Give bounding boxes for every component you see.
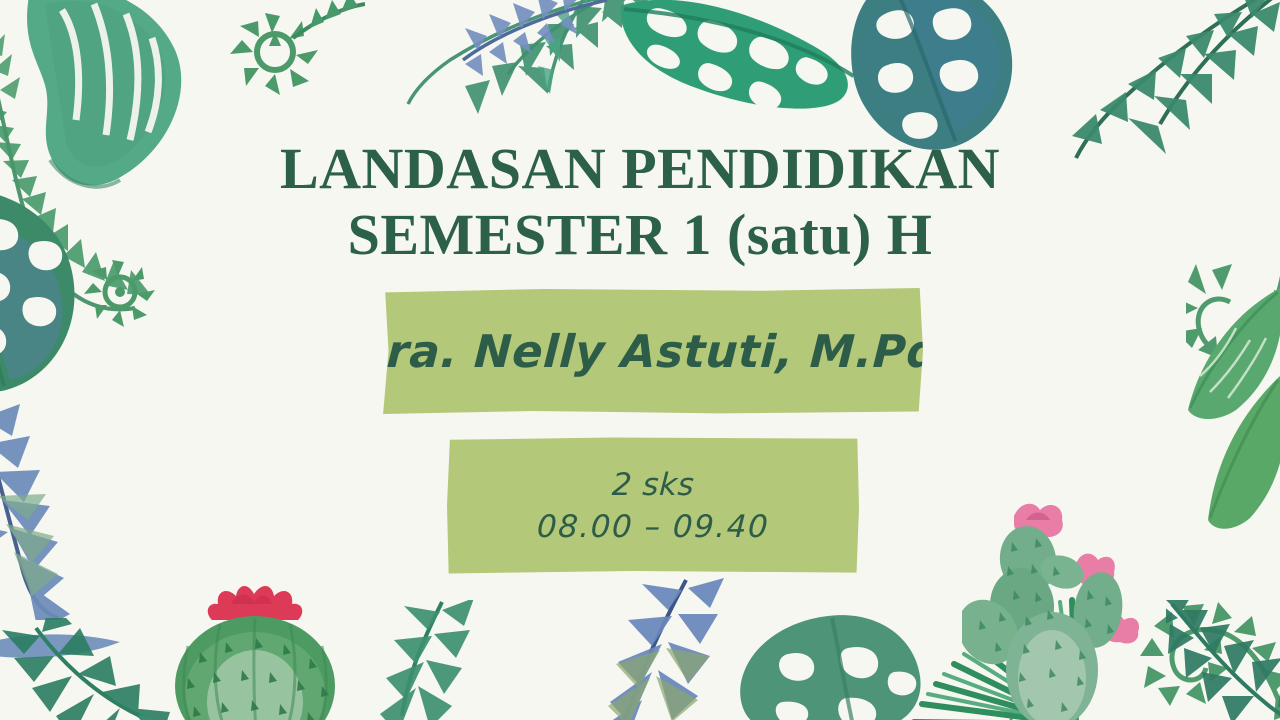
instructor-name-banner: Dra. Nelly Astuti, M.Pd.	[382, 288, 923, 414]
cactus-flower-red	[208, 586, 303, 620]
instructor-name: Dra. Nelly Astuti, M.Pd.	[347, 325, 958, 378]
course-details-box: 2 sks 08.00 – 09.40	[447, 437, 859, 574]
page-title: LANDASAN PENDIDIKAN SEMESTER 1 (satu) H	[190, 136, 1090, 267]
blue-palm-frond-bottom-center-decoration	[506, 576, 766, 720]
title-line-1: LANDASAN PENDIDIKAN	[190, 136, 1090, 202]
cactus-flower-pink-top	[1014, 504, 1063, 538]
fiddlehead-fern-top-center-left-decoration	[215, 0, 365, 102]
blue-fern-frond-top-center-decoration	[455, 0, 615, 88]
course-credits: 2 sks	[611, 467, 695, 503]
blue-palm-frond-left-decoration	[0, 400, 220, 620]
monstera-leaf-top-center-decoration	[578, 0, 868, 150]
cactus-flower-pink-low	[1101, 613, 1139, 643]
course-time: 08.00 – 09.40	[536, 509, 770, 545]
fern-frond-top-center-decoration	[330, 0, 660, 117]
leaf-right-lower-decoration	[1204, 370, 1280, 530]
palm-frond-bottom-left-decoration	[0, 618, 280, 720]
palm-frond-bottom-left-2-decoration	[316, 600, 516, 720]
slide-canvas: LANDASAN PENDIDIKAN SEMESTER 1 (satu) H …	[0, 0, 1280, 720]
fiddlehead-fern-top-left-spiral	[84, 260, 155, 327]
fiddlehead-fern-right-decoration	[1186, 196, 1280, 396]
fan-palm-bottom-right-decoration	[876, 596, 1096, 720]
leaf-right-middle-decoration	[1180, 280, 1280, 420]
cactus-flower-pink-mid	[1075, 554, 1115, 586]
fern-frond-top-left-decoration	[0, 20, 170, 350]
blue-palm-leaf-bottom-left-decoration	[0, 630, 140, 670]
fiddlehead-fern-bottom-right-decoration	[1108, 590, 1280, 720]
palm-frond-bottom-right-decoration	[1166, 600, 1280, 720]
prickly-pear-cactus-bottom-right-decoration	[962, 480, 1202, 720]
title-line-2: SEMESTER 1 (satu) H	[190, 202, 1090, 268]
monstera-leaf-left-decoration	[0, 180, 130, 400]
title-block: LANDASAN PENDIDIKAN SEMESTER 1 (satu) H	[190, 136, 1090, 267]
barrel-cactus-bottom-left-decoration	[160, 582, 350, 720]
monstera-leaf-bottom-center-decoration	[736, 610, 936, 720]
